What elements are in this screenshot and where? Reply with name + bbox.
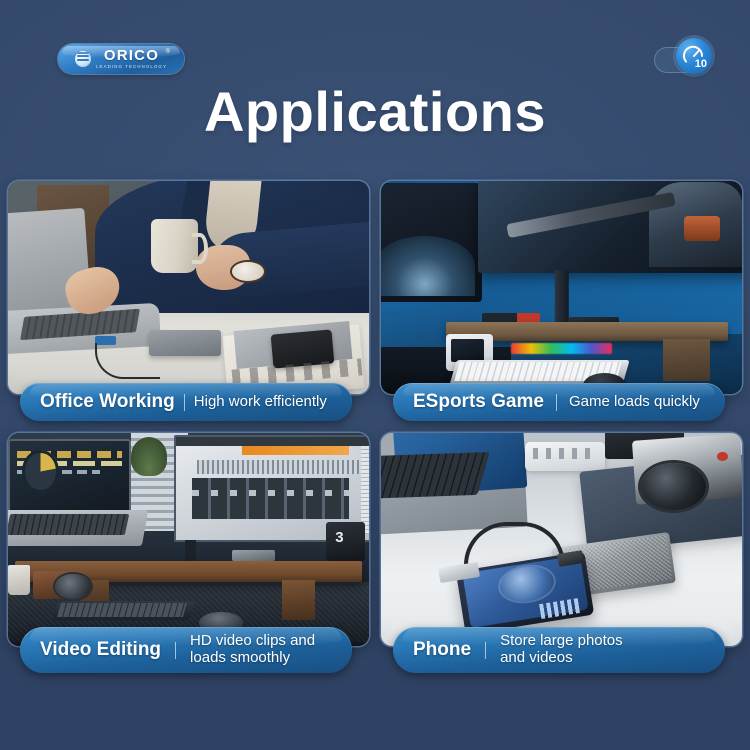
video-editing-label-bar[interactable]: Video Editing HD video clips and loads s… bbox=[20, 627, 352, 673]
label-separator bbox=[556, 394, 557, 411]
label-separator bbox=[184, 394, 185, 411]
office-working-scene bbox=[8, 181, 369, 394]
esports-game-scene bbox=[381, 181, 742, 394]
page-title: Applications bbox=[0, 84, 750, 140]
speed-gauge-icon: 10 bbox=[676, 38, 712, 74]
label-separator bbox=[175, 642, 176, 659]
phone-photo bbox=[381, 433, 742, 646]
phone-subtitle-line-1: Store large photos bbox=[500, 632, 623, 649]
applications-page: ORICO LEADING TECHNOLOGY ® 10 Applicatio… bbox=[0, 0, 750, 750]
application-card-esports-game[interactable]: ESports Game Game loads quickly bbox=[381, 181, 742, 421]
office-working-title: Office Working bbox=[40, 391, 175, 413]
applications-grid: Office Working High work efficiently bbox=[8, 181, 742, 681]
video-editing-subtitle: HD video clips and loads smoothly bbox=[190, 633, 315, 667]
phone-scene bbox=[381, 433, 742, 646]
application-card-phone[interactable]: Phone Store large photos and videos bbox=[381, 433, 742, 673]
orico-logo-text: ORICO LEADING TECHNOLOGY bbox=[96, 48, 167, 69]
application-card-video-editing[interactable]: 3 Video Editing HD video clips and loads… bbox=[8, 433, 369, 673]
video-editing-photo: 3 bbox=[8, 433, 369, 646]
office-working-label-bar[interactable]: Office Working High work efficiently bbox=[20, 383, 352, 421]
esports-game-photo bbox=[381, 181, 742, 394]
orico-logo-word: ORICO bbox=[104, 48, 159, 63]
phone-subtitle-line-2: and videos bbox=[500, 649, 573, 666]
office-working-photo bbox=[8, 181, 369, 394]
phone-subtitle: Store large photos and videos bbox=[500, 633, 623, 667]
video-editing-subtitle-line-2: loads smoothly bbox=[190, 649, 290, 666]
office-working-subtitle: High work efficiently bbox=[194, 394, 327, 411]
esports-game-subtitle: Game loads quickly bbox=[569, 394, 700, 411]
orico-logo-registered-mark: ® bbox=[166, 49, 170, 55]
orico-logo-mark-icon bbox=[75, 51, 91, 67]
phone-title: Phone bbox=[413, 639, 471, 661]
label-separator bbox=[485, 642, 486, 659]
video-editing-scene: 3 bbox=[8, 433, 369, 646]
phone-label-bar[interactable]: Phone Store large photos and videos bbox=[393, 627, 725, 673]
video-editing-title: Video Editing bbox=[40, 639, 161, 661]
esports-game-title: ESports Game bbox=[413, 391, 544, 413]
monitor-number-label: 3 bbox=[335, 529, 343, 546]
application-card-office-working[interactable]: Office Working High work efficiently bbox=[8, 181, 369, 421]
speed-badge: 10 bbox=[654, 38, 712, 80]
esports-game-label-bar[interactable]: ESports Game Game loads quickly bbox=[393, 383, 725, 421]
video-editing-subtitle-line-1: HD video clips and bbox=[190, 632, 315, 649]
orico-logo: ORICO LEADING TECHNOLOGY ® bbox=[58, 44, 184, 74]
orico-logo-tagline: LEADING TECHNOLOGY bbox=[96, 65, 167, 69]
speed-badge-value: 10 bbox=[695, 58, 707, 70]
